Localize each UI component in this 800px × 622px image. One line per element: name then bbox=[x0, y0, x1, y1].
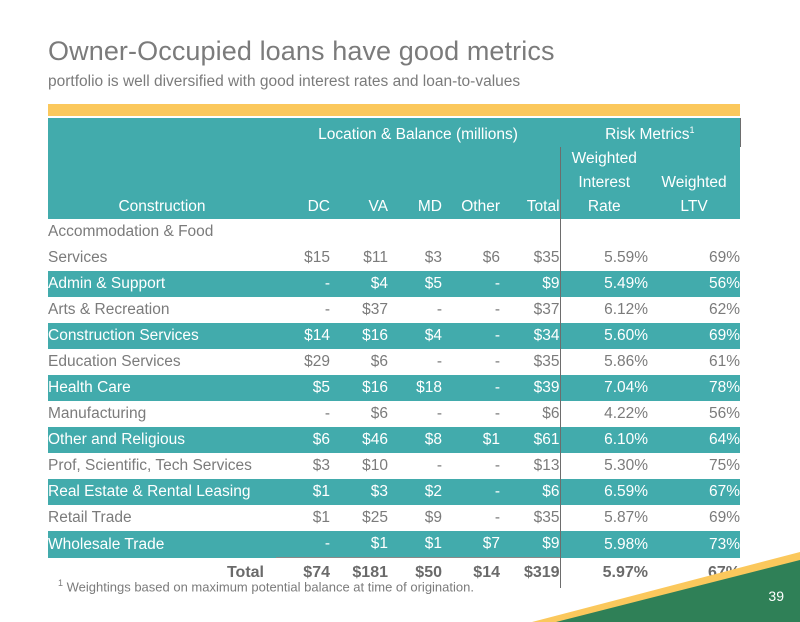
cell-other: - bbox=[442, 505, 500, 531]
cell-rate: 4.22% bbox=[560, 401, 648, 427]
row-label: Accommodation & Food Services bbox=[48, 219, 276, 271]
header-interest-line2: Interest bbox=[560, 171, 648, 195]
total-cell-ltv: 67% bbox=[648, 558, 740, 589]
cell-rate: 5.30% bbox=[560, 453, 648, 479]
cell-va: $1 bbox=[330, 531, 388, 558]
page-title: Owner-Occupied loans have good metrics bbox=[48, 36, 555, 67]
row-label: Wholesale Trade bbox=[48, 531, 276, 558]
table-row: Construction Services$14$16$4-$345.60%69… bbox=[48, 323, 740, 349]
cell-md: $18 bbox=[388, 375, 442, 401]
row-label: Education Services bbox=[48, 349, 276, 375]
table-row: Accommodation & Food Services$15$11$3$6$… bbox=[48, 219, 740, 271]
cell-total: $35 bbox=[500, 349, 560, 375]
cell-va: $6 bbox=[330, 349, 388, 375]
cell-rate: 5.86% bbox=[560, 349, 648, 375]
header-group-row: Location & Balance (millions) Risk Metri… bbox=[48, 118, 740, 147]
cell-total: $6 bbox=[500, 479, 560, 505]
footnote-marker: 1 bbox=[58, 578, 63, 588]
cell-total: $9 bbox=[500, 271, 560, 297]
page-subtitle: portfolio is well diversified with good … bbox=[48, 73, 520, 91]
row-label: Health Care bbox=[48, 375, 276, 401]
cell-va: $46 bbox=[330, 427, 388, 453]
cell-ltv: 64% bbox=[648, 427, 740, 453]
column-header-md: MD bbox=[388, 195, 442, 219]
footnote-marker-risk: 1 bbox=[689, 125, 694, 135]
cell-md: - bbox=[388, 297, 442, 323]
cell-ltv: 67% bbox=[648, 479, 740, 505]
header-spacer bbox=[442, 147, 500, 171]
cell-rate: 6.12% bbox=[560, 297, 648, 323]
table-row: Arts & Recreation-$37--$376.12%62% bbox=[48, 297, 740, 323]
header-stacked-row-1: Weighted bbox=[48, 147, 740, 171]
cell-ltv: 56% bbox=[648, 401, 740, 427]
table-header: Location & Balance (millions) Risk Metri… bbox=[48, 118, 740, 219]
cell-md: $8 bbox=[388, 427, 442, 453]
cell-rate: 5.98% bbox=[560, 531, 648, 558]
cell-ltv: 75% bbox=[648, 453, 740, 479]
cell-other: - bbox=[442, 453, 500, 479]
cell-rate: 5.87% bbox=[560, 505, 648, 531]
cell-ltv: 78% bbox=[648, 375, 740, 401]
header-spacer bbox=[276, 147, 330, 171]
cell-other: - bbox=[442, 349, 500, 375]
footnote: 1 Weightings based on maximum potential … bbox=[58, 578, 474, 594]
row-label: Manufacturing bbox=[48, 401, 276, 427]
cell-other: $1 bbox=[442, 427, 500, 453]
table-row: Wholesale Trade-$1$1$7$95.98%73% bbox=[48, 531, 740, 558]
cell-ltv: 56% bbox=[648, 271, 740, 297]
header-spacer bbox=[500, 147, 560, 171]
page-number: 39 bbox=[768, 588, 784, 604]
cell-va: $25 bbox=[330, 505, 388, 531]
cell-rate: 5.59% bbox=[560, 219, 648, 271]
cell-va: $10 bbox=[330, 453, 388, 479]
cell-other: - bbox=[442, 271, 500, 297]
cell-other: - bbox=[442, 375, 500, 401]
cell-md: $2 bbox=[388, 479, 442, 505]
cell-rate: 7.04% bbox=[560, 375, 648, 401]
row-label: Real Estate & Rental Leasing bbox=[48, 479, 276, 505]
header-weighted-line1: Weighted bbox=[560, 147, 648, 171]
cell-other: - bbox=[442, 479, 500, 505]
cell-dc: $6 bbox=[276, 427, 330, 453]
cell-dc: $14 bbox=[276, 323, 330, 349]
cell-dc: - bbox=[276, 401, 330, 427]
header-stacked-row-2: Interest Weighted bbox=[48, 171, 740, 195]
cell-dc: $29 bbox=[276, 349, 330, 375]
footnote-text: Weightings based on maximum potential ba… bbox=[67, 579, 474, 594]
loan-metrics-table: Location & Balance (millions) Risk Metri… bbox=[48, 118, 741, 588]
cell-rate: 5.49% bbox=[560, 271, 648, 297]
header-spacer bbox=[330, 171, 388, 195]
header-spacer bbox=[500, 171, 560, 195]
cell-dc: - bbox=[276, 531, 330, 558]
cell-rate: 5.60% bbox=[560, 323, 648, 349]
cell-dc: - bbox=[276, 271, 330, 297]
header-column-row: Construction DC VA MD Other Total Rate L… bbox=[48, 195, 740, 219]
header-spacer bbox=[48, 118, 276, 147]
header-spacer bbox=[388, 171, 442, 195]
table-row: Admin & Support-$4$5-$95.49%56% bbox=[48, 271, 740, 297]
cell-ltv: 69% bbox=[648, 219, 740, 271]
column-header-construction: Construction bbox=[48, 195, 276, 219]
table-row: Retail Trade$1$25$9-$355.87%69% bbox=[48, 505, 740, 531]
cell-total: $39 bbox=[500, 375, 560, 401]
cell-md: - bbox=[388, 401, 442, 427]
cell-ltv: 73% bbox=[648, 531, 740, 558]
column-header-other: Other bbox=[442, 195, 500, 219]
cell-total: $34 bbox=[500, 323, 560, 349]
header-spacer bbox=[48, 171, 276, 195]
cell-va: $37 bbox=[330, 297, 388, 323]
column-header-va: VA bbox=[330, 195, 388, 219]
cell-dc: $1 bbox=[276, 479, 330, 505]
group-header-risk-metrics: Risk Metrics1 bbox=[560, 118, 740, 147]
header-spacer bbox=[442, 171, 500, 195]
row-label: Retail Trade bbox=[48, 505, 276, 531]
cell-other: - bbox=[442, 297, 500, 323]
cell-dc: - bbox=[276, 297, 330, 323]
row-label: Admin & Support bbox=[48, 271, 276, 297]
cell-total: $35 bbox=[500, 219, 560, 271]
cell-total: $37 bbox=[500, 297, 560, 323]
row-label: Arts & Recreation bbox=[48, 297, 276, 323]
row-label: Construction Services bbox=[48, 323, 276, 349]
row-label: Prof, Scientific, Tech Services bbox=[48, 453, 276, 479]
cell-va: $6 bbox=[330, 401, 388, 427]
total-cell-total: $319 bbox=[500, 558, 560, 589]
cell-md: $4 bbox=[388, 323, 442, 349]
row-label: Other and Religious bbox=[48, 427, 276, 453]
cell-other: - bbox=[442, 323, 500, 349]
header-spacer bbox=[388, 147, 442, 171]
cell-other: $6 bbox=[442, 219, 500, 271]
header-spacer bbox=[276, 171, 330, 195]
cell-total: $13 bbox=[500, 453, 560, 479]
header-spacer bbox=[330, 147, 388, 171]
header-weighted-ltv-line1: Weighted bbox=[648, 171, 740, 195]
total-cell-rate: 5.97% bbox=[560, 558, 648, 589]
column-header-rate: Rate bbox=[560, 195, 648, 219]
table-body: Accommodation & Food Services$15$11$3$6$… bbox=[48, 219, 740, 588]
cell-ltv: 69% bbox=[648, 505, 740, 531]
cell-ltv: 62% bbox=[648, 297, 740, 323]
cell-va: $4 bbox=[330, 271, 388, 297]
gold-divider-bar bbox=[48, 104, 740, 116]
table-row: Education Services$29$6--$355.86%61% bbox=[48, 349, 740, 375]
cell-other: - bbox=[442, 401, 500, 427]
cell-other: $7 bbox=[442, 531, 500, 558]
table-row: Prof, Scientific, Tech Services$3$10--$1… bbox=[48, 453, 740, 479]
cell-md: $1 bbox=[388, 531, 442, 558]
column-header-ltv: LTV bbox=[648, 195, 740, 219]
cell-total: $61 bbox=[500, 427, 560, 453]
column-header-total: Total bbox=[500, 195, 560, 219]
cell-ltv: 61% bbox=[648, 349, 740, 375]
table-row: Real Estate & Rental Leasing$1$3$2-$66.5… bbox=[48, 479, 740, 505]
cell-va: $16 bbox=[330, 375, 388, 401]
cell-total: $6 bbox=[500, 401, 560, 427]
cell-md: - bbox=[388, 349, 442, 375]
cell-total: $9 bbox=[500, 531, 560, 558]
cell-rate: 6.10% bbox=[560, 427, 648, 453]
table-row: Manufacturing-$6--$64.22%56% bbox=[48, 401, 740, 427]
header-spacer bbox=[48, 147, 276, 171]
cell-md: $5 bbox=[388, 271, 442, 297]
cell-va: $3 bbox=[330, 479, 388, 505]
cell-dc: $15 bbox=[276, 219, 330, 271]
column-header-dc: DC bbox=[276, 195, 330, 219]
cell-dc: $5 bbox=[276, 375, 330, 401]
cell-md: $3 bbox=[388, 219, 442, 271]
header-spacer bbox=[648, 147, 740, 171]
cell-total: $35 bbox=[500, 505, 560, 531]
cell-md: - bbox=[388, 453, 442, 479]
cell-dc: $1 bbox=[276, 505, 330, 531]
group-header-location-balance: Location & Balance (millions) bbox=[276, 118, 560, 147]
group-header-risk-metrics-label: Risk Metrics bbox=[605, 126, 689, 143]
table-row: Other and Religious$6$46$8$1$616.10%64% bbox=[48, 427, 740, 453]
cell-rate: 6.59% bbox=[560, 479, 648, 505]
cell-md: $9 bbox=[388, 505, 442, 531]
cell-dc: $3 bbox=[276, 453, 330, 479]
cell-va: $11 bbox=[330, 219, 388, 271]
cell-va: $16 bbox=[330, 323, 388, 349]
cell-ltv: 69% bbox=[648, 323, 740, 349]
table-row: Health Care$5$16$18-$397.04%78% bbox=[48, 375, 740, 401]
